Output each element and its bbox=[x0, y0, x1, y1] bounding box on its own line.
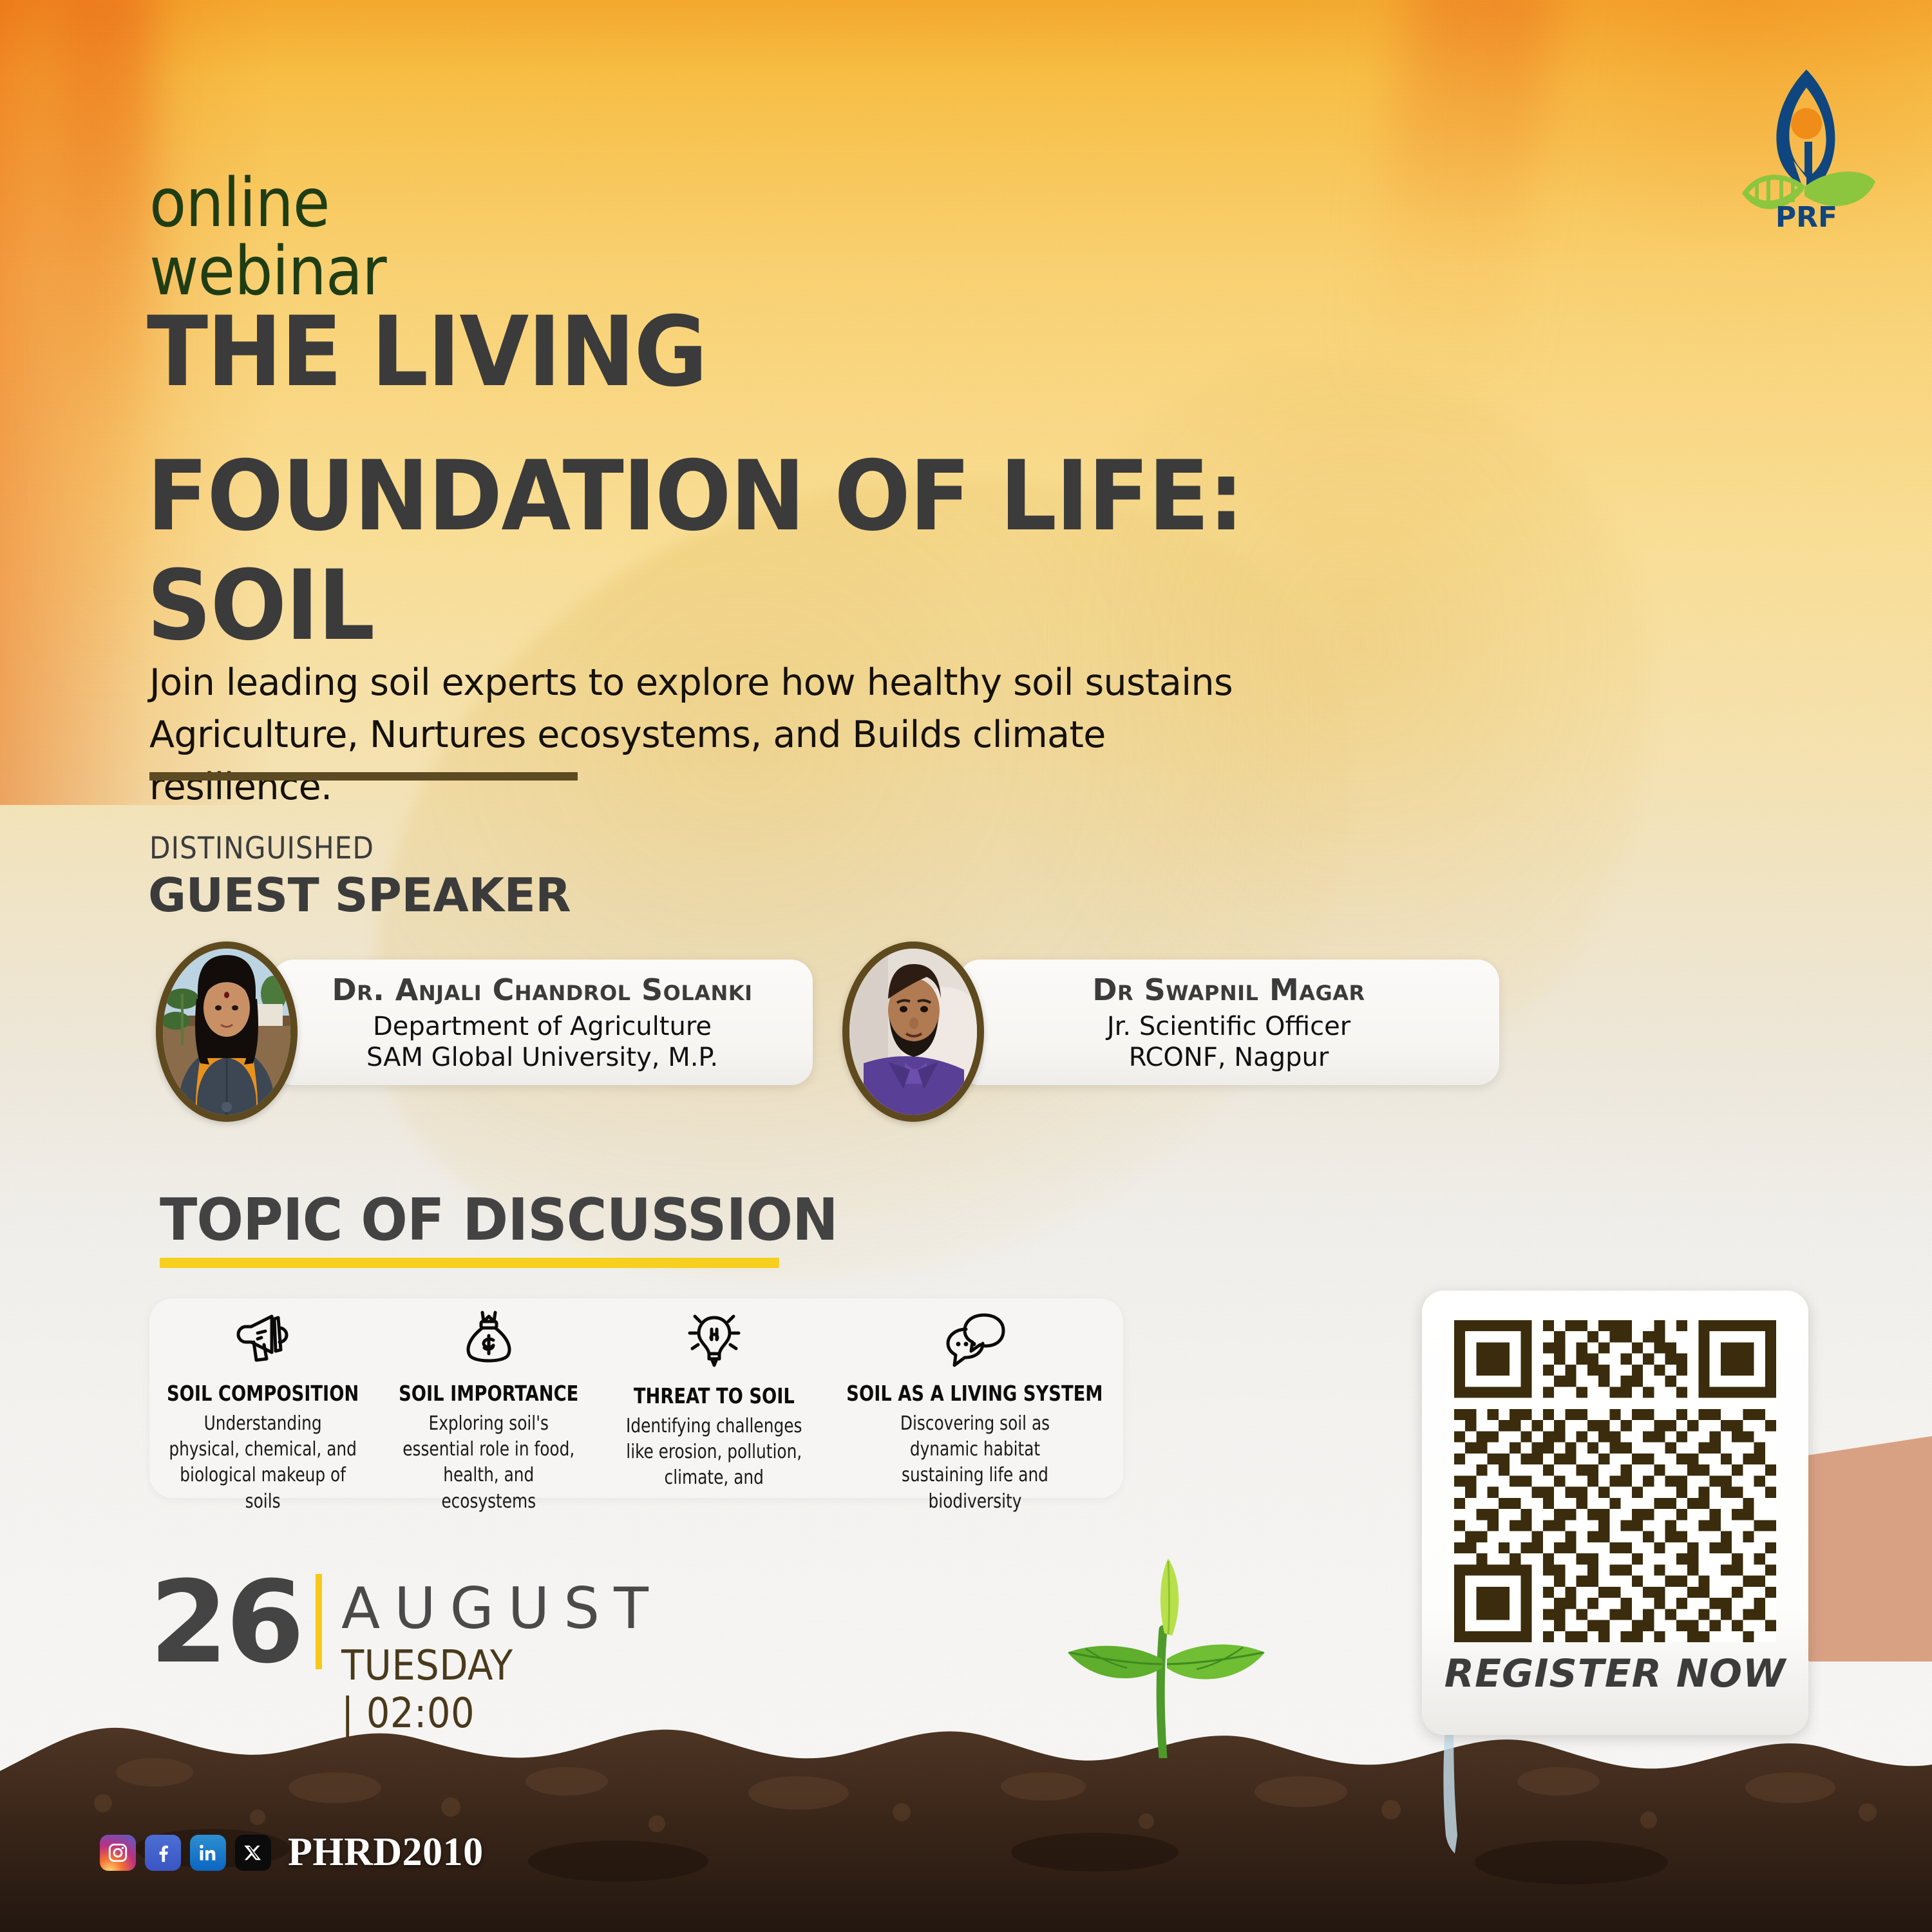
event-date-month: AUGUST bbox=[341, 1575, 663, 1642]
speaker-1-affiliation-line-1: Department of Agriculture bbox=[373, 1012, 712, 1041]
topic-item-3: THREAT TO SOIL Identifying challenges li… bbox=[601, 1298, 827, 1498]
speakers-list: Dr. Anjali Chandrol Solanki Department o… bbox=[0, 942, 1932, 1148]
topics-card: SOIL COMPOSITION Understanding physical,… bbox=[149, 1298, 1123, 1498]
speakers-eyebrow: DISTINGUISHED bbox=[149, 831, 374, 866]
topics-accent-underline bbox=[160, 1258, 779, 1268]
topic-item-2: SOIL IMPORTANCE Exploring soil's essenti… bbox=[376, 1298, 601, 1498]
topic-item-1: SOIL COMPOSITION Understanding physical,… bbox=[149, 1298, 376, 1498]
title-line-3: SOIL bbox=[147, 558, 1243, 654]
megaphone-icon bbox=[232, 1307, 294, 1369]
register-now-label[interactable]: REGISTER NOW bbox=[1444, 1651, 1786, 1696]
logo-sun-dot bbox=[1791, 108, 1822, 139]
topics-heading: TOPIC OF DISCUSSION bbox=[160, 1186, 838, 1254]
seedling-illustration bbox=[1030, 1546, 1301, 1758]
registration-panel[interactable]: REGISTER NOW bbox=[1422, 1291, 1808, 1735]
topic-item-2-desc: Exploring soil's essential role in food,… bbox=[393, 1411, 584, 1515]
money-bag-icon bbox=[458, 1307, 520, 1369]
webinar-poster: PRF online webinar THE LIVING FOUNDATION… bbox=[0, 0, 1932, 1932]
background-streak-left bbox=[58, 0, 155, 683]
title-line-2: FOUNDATION OF LIFE: bbox=[147, 448, 1243, 545]
subtitle: Join leading soil experts to explore how… bbox=[149, 657, 1270, 813]
speaker-1-avatar bbox=[156, 942, 298, 1122]
speakers-heading: GUEST SPEAKER bbox=[148, 868, 571, 922]
speaker-2-affiliation-line-1: Jr. Scientific Officer bbox=[1107, 1012, 1350, 1041]
kicker-online-webinar: online webinar bbox=[149, 169, 386, 305]
speaker-2-affiliation-line-2: RCONF, Nagpur bbox=[1129, 1043, 1329, 1072]
kicker-line-1: online bbox=[149, 169, 386, 237]
instagram-icon[interactable] bbox=[100, 1835, 136, 1871]
topic-item-2-title: SOIL IMPORTANCE bbox=[399, 1381, 578, 1406]
header-divider bbox=[149, 772, 578, 781]
topic-item-1-desc: Understanding physical, chemical, and bi… bbox=[167, 1411, 359, 1515]
title-line-1: THE LIVING bbox=[147, 304, 1243, 401]
kicker-line-2: webinar bbox=[149, 237, 386, 305]
speaker-card-2: Dr Swapnil Magar Jr. Scientific Officer … bbox=[842, 942, 1499, 1135]
speech-bubbles-icon bbox=[943, 1307, 1007, 1369]
linkedin-icon[interactable] bbox=[190, 1835, 226, 1871]
facebook-icon[interactable] bbox=[145, 1835, 181, 1871]
social-handle: PHRD2010 bbox=[288, 1830, 484, 1875]
speaker-card-1: Dr. Anjali Chandrol Solanki Department o… bbox=[156, 942, 813, 1135]
speaker-1-affiliation-line-2: SAM Global University, M.P. bbox=[366, 1043, 718, 1072]
topic-item-4-desc: Discovering soil as dynamic habitat sust… bbox=[877, 1411, 1073, 1515]
topic-item-4-title: SOIL AS A LIVING SYSTEM bbox=[847, 1381, 1103, 1406]
lightbulb-icon bbox=[683, 1307, 745, 1372]
topic-item-4: SOIL AS A LIVING SYSTEM Discovering soil… bbox=[826, 1298, 1123, 1498]
twitter-x-icon[interactable] bbox=[235, 1835, 271, 1871]
topic-item-3-desc: Identifying challenges like erosion, pol… bbox=[619, 1414, 810, 1492]
topic-item-3-title: THREAT TO SOIL bbox=[634, 1383, 795, 1408]
page-title: THE LIVING FOUNDATION OF LIFE: SOIL bbox=[147, 304, 1325, 654]
speaker-2-name: Dr Swapnil Magar bbox=[1092, 972, 1365, 1007]
registration-qr-code[interactable] bbox=[1454, 1320, 1776, 1642]
footer-social-bar: PHRD2010 bbox=[100, 1830, 484, 1875]
speaker-1-name: Dr. Anjali Chandrol Solanki bbox=[332, 972, 752, 1007]
topic-item-1-title: SOIL COMPOSITION bbox=[167, 1381, 359, 1406]
speaker-2-avatar bbox=[842, 942, 984, 1122]
prf-logo: PRF bbox=[1732, 64, 1880, 232]
prf-logo-text: PRF bbox=[1776, 201, 1837, 232]
